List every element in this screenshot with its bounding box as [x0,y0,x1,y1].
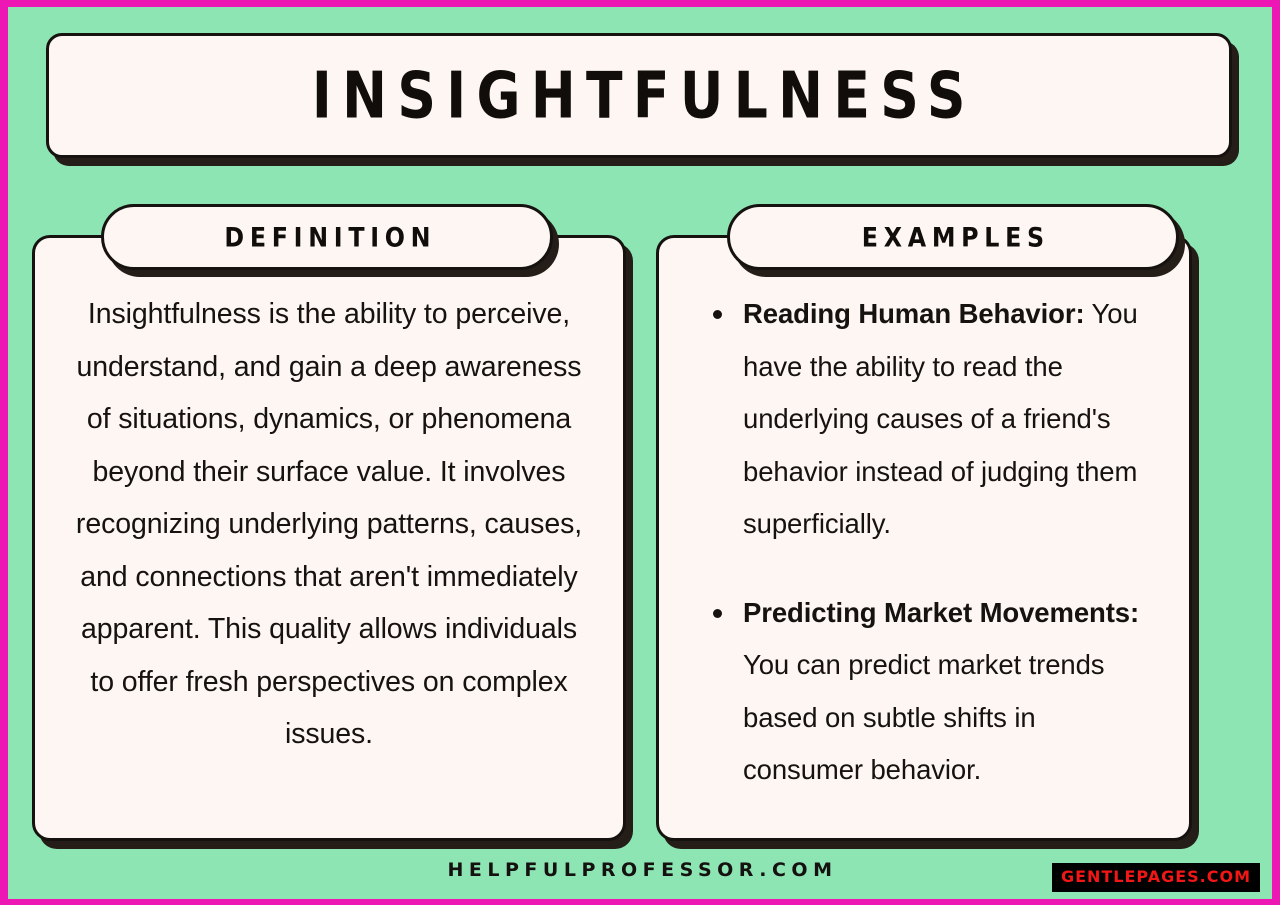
bullet-icon [713,609,722,618]
watermark-label: GENTLEPAGES.COM [1061,867,1251,886]
examples-heading-pill: EXAMPLES [727,204,1179,270]
watermark-badge: GENTLEPAGES.COM [1052,863,1260,892]
examples-list: Reading Human Behavior: You have the abi… [681,288,1167,797]
definition-heading-pill: DEFINITION [101,204,553,270]
poster-canvas: INSIGHTFULNESS DEFINITION Insightfulness… [8,7,1272,899]
bullet-icon [713,310,722,319]
example-term: Reading Human Behavior: [743,298,1085,329]
example-term: Predicting Market Movements: [743,597,1139,628]
definition-card: DEFINITION Insightfulness is the ability… [32,235,626,841]
title-card: INSIGHTFULNESS [46,33,1232,158]
list-item: Predicting Market Movements: You can pre… [711,587,1157,797]
poster-frame: INSIGHTFULNESS DEFINITION Insightfulness… [0,0,1280,905]
examples-heading-label: EXAMPLES [856,221,1050,252]
definition-text: Insightfulness is the ability to perceiv… [57,288,601,761]
example-description: You can predict market trends based on s… [743,649,1104,785]
definition-body-wrapper: Insightfulness is the ability to perceiv… [35,288,623,824]
example-description: You have the ability to read the underly… [743,298,1138,539]
list-item: Reading Human Behavior: You have the abi… [711,288,1157,551]
page-title: INSIGHTFULNESS [302,59,976,133]
examples-body-wrapper: Reading Human Behavior: You have the abi… [659,288,1189,824]
examples-card: EXAMPLES Reading Human Behavior: You hav… [656,235,1192,841]
definition-heading-label: DEFINITION [218,221,436,252]
